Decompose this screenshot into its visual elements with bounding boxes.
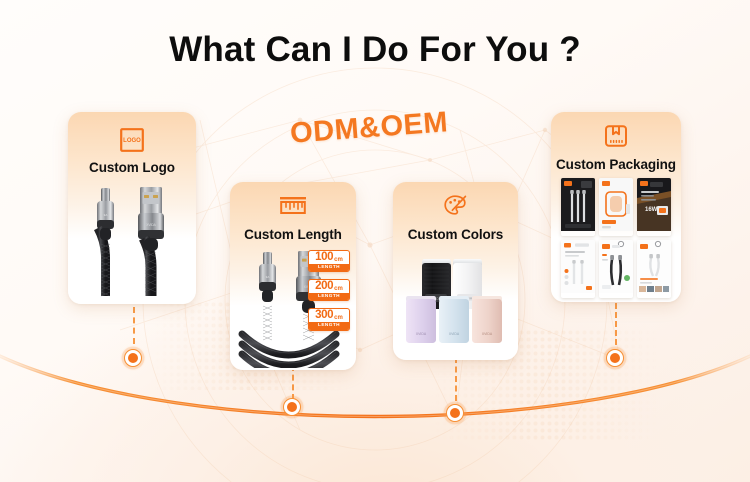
card-icon-slot: [230, 196, 356, 216]
infographic-canvas: What Can I Do For You ? ODM&OEM: [0, 0, 750, 482]
badge-value: 300: [315, 310, 333, 322]
svg-text:XVIDA: XVIDA: [449, 332, 460, 336]
card-custom-logo[interactable]: LOGO Custom Logo: [68, 112, 196, 304]
packaging-thumb-dark-wood-box[interactable]: 16W: [637, 178, 671, 236]
badge-value-row: 100 cm: [309, 251, 349, 264]
card-title-custom-packaging: Custom Packaging: [551, 157, 681, 172]
packaging-thumb-black-cable-box[interactable]: [561, 178, 595, 236]
connector-dash-4: [615, 303, 617, 345]
product-image-usb-lightning-cable: 3A XVIDA: [84, 186, 182, 298]
page-title: What Can I Do For You ?: [0, 30, 750, 70]
length-badge-200[interactable]: 200 cm LENGTH: [308, 279, 350, 301]
badge-unit: cm: [334, 286, 343, 293]
badge-unit: cm: [334, 315, 343, 322]
node-core: [610, 353, 620, 363]
svg-text:XVIDA: XVIDA: [482, 332, 493, 336]
timeline-node-custom-packaging[interactable]: [602, 345, 628, 371]
card-title-custom-logo: Custom Logo: [68, 160, 196, 175]
badge-value: 200: [315, 281, 333, 293]
badge-label: LENGTH: [309, 293, 349, 301]
node-core: [287, 402, 297, 412]
logo-square-icon: LOGO: [120, 128, 144, 152]
card-title-custom-length: Custom Length: [230, 227, 356, 242]
badge-label: LENGTH: [309, 264, 349, 272]
timeline-node-custom-length[interactable]: [279, 394, 305, 420]
package-box-icon: [604, 124, 628, 148]
svg-text:3A: 3A: [266, 275, 270, 279]
packaging-thumb-braided-cable-box[interactable]: [599, 240, 633, 298]
card-icon-slot: [551, 124, 681, 148]
length-badge-100[interactable]: 100 cm LENGTH: [308, 250, 350, 272]
length-badge-300[interactable]: 300 cm LENGTH: [308, 308, 350, 330]
timeline-curve: [0, 300, 750, 470]
card-icon-slot: LOGO: [68, 128, 196, 152]
badge-label: LENGTH: [309, 322, 349, 330]
product-image-power-bank-color-range: XVIDA XVIDA XVIDA XVIDA: [401, 248, 511, 353]
card-icon-slot: [393, 194, 518, 218]
svg-text:16W: 16W: [645, 207, 658, 213]
card-custom-length[interactable]: Custom Length: [230, 182, 356, 370]
card-custom-packaging[interactable]: Custom Packaging: [551, 112, 681, 302]
odm-oem-badge: ODM&OEM: [289, 106, 449, 150]
node-core: [128, 353, 138, 363]
badge-unit: cm: [334, 257, 343, 264]
packaging-thumb-white-cable-box[interactable]: [561, 240, 595, 298]
card-title-custom-colors: Custom Colors: [393, 227, 518, 242]
connector-dash-3: [455, 357, 457, 401]
connector-dash-1: [133, 307, 135, 344]
timeline-node-custom-logo[interactable]: [120, 345, 146, 371]
badge-value-row: 200 cm: [309, 280, 349, 293]
svg-text:LOGO: LOGO: [123, 138, 141, 144]
packaging-thumbnail-grid: 16W: [561, 178, 671, 298]
length-badge-list: 100 cm LENGTH 200 cm LENGTH 300 cm LENGT…: [308, 250, 350, 331]
svg-text:3A: 3A: [104, 213, 108, 217]
badge-value: 100: [315, 252, 333, 264]
badge-value-row: 300 cm: [309, 309, 349, 322]
svg-text:XVIDA: XVIDA: [146, 223, 156, 227]
ruler-icon: [279, 196, 307, 216]
palette-icon: [443, 194, 469, 218]
node-core: [450, 408, 460, 418]
card-custom-colors[interactable]: Custom Colors: [393, 182, 518, 360]
packaging-thumb-retail-blister[interactable]: [637, 240, 671, 298]
svg-text:XVIDA: XVIDA: [416, 332, 427, 336]
timeline-node-custom-colors[interactable]: [442, 400, 468, 426]
packaging-thumb-white-charger-box[interactable]: [599, 178, 633, 236]
